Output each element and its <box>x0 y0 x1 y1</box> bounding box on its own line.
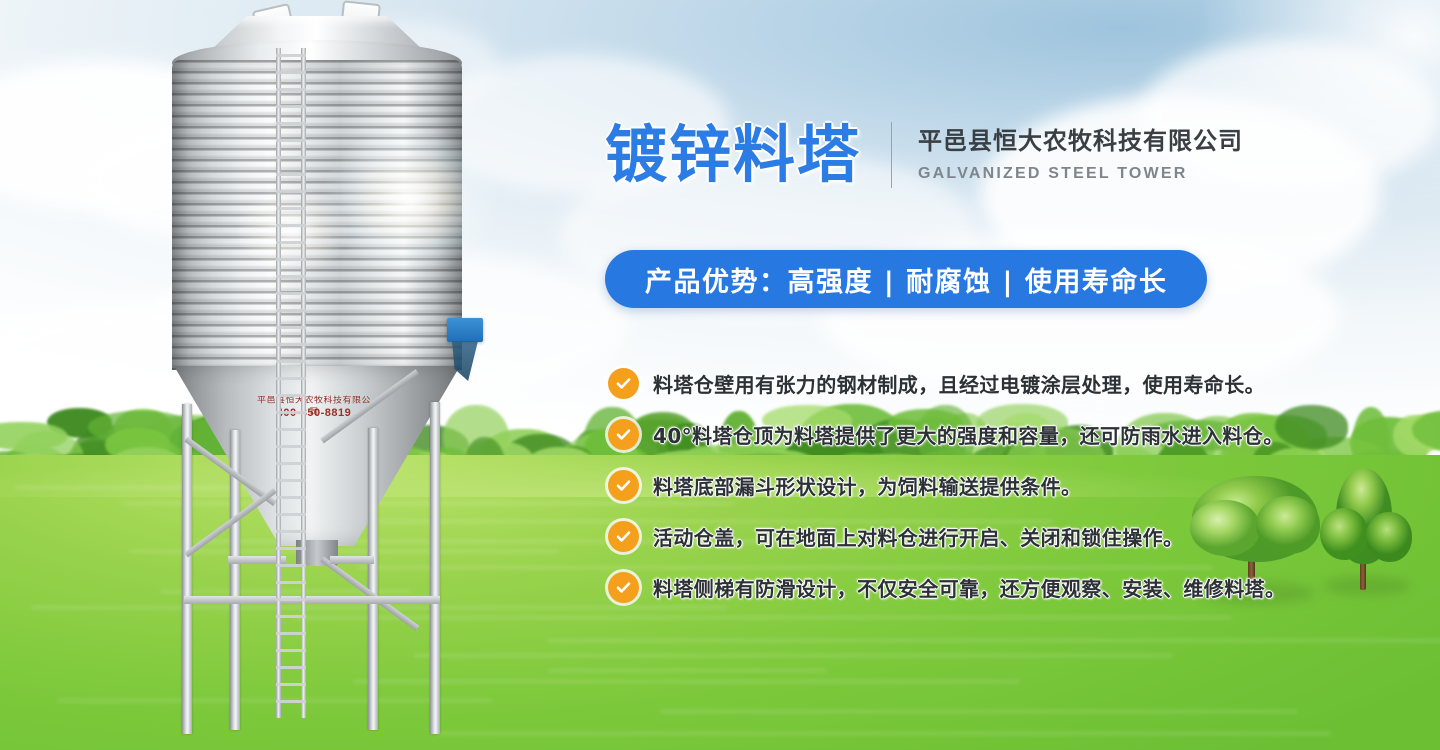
ladder-rung <box>276 649 306 652</box>
ladder-rung <box>276 411 306 414</box>
check-icon <box>608 470 639 501</box>
check-icon <box>608 572 639 603</box>
company-name: 平邑县恒大农牧科技有限公司 <box>918 127 1243 156</box>
ladder-rung <box>276 71 306 74</box>
ladder-rung <box>276 122 306 125</box>
ladder-rung <box>276 241 306 244</box>
hero-text-content: 镀锌料塔 平邑县恒大农牧科技有限公司 GALVANIZED STEEL TOWE… <box>600 0 1440 750</box>
ladder-rung <box>276 207 306 210</box>
title-block: 镀锌料塔 平邑县恒大农牧科技有限公司 GALVANIZED STEEL TOWE… <box>605 122 1243 188</box>
feature-item: 料塔仓壁用有张力的钢材制成，且经过电镀涂层处理，使用寿命长。 <box>608 358 1428 409</box>
page-title: 镀锌料塔 <box>605 124 861 186</box>
ladder-rung <box>276 139 306 142</box>
feature-text: 活动仓盖，可在地面上对料仓进行开启、关闭和锁住操作。 <box>653 522 1183 551</box>
ladder-rung <box>276 564 306 567</box>
feature-item: 40°料塔仓顶为料塔提供了更大的强度和容量，还可防雨水进入料仓。 <box>608 409 1428 460</box>
title-divider <box>891 122 892 188</box>
ladder-rung <box>276 156 306 159</box>
ladder-rung <box>276 258 306 261</box>
horizontal-brace <box>330 556 374 564</box>
advantage-banner-text: 产品优势：高强度 | 耐腐蚀 | 使用寿命长 <box>645 260 1167 299</box>
ladder-rung <box>276 632 306 635</box>
side-ladder <box>276 48 306 718</box>
ladder-rung <box>276 581 306 584</box>
ladder-rung <box>276 309 306 312</box>
feature-item: 料塔底部漏斗形状设计，为饲料输送提供条件。 <box>608 460 1428 511</box>
ladder-rung <box>276 513 306 516</box>
ladder-rung <box>276 292 306 295</box>
ladder-rung <box>276 615 306 618</box>
check-icon <box>608 419 639 450</box>
check-icon <box>608 368 639 399</box>
ladder-rung <box>276 224 306 227</box>
support-leg <box>368 428 378 730</box>
ladder-rung <box>276 394 306 397</box>
blue-auger-part <box>447 318 483 342</box>
ladder-rung <box>276 683 306 686</box>
ladder-rung <box>276 598 306 601</box>
ladder-rung <box>276 360 306 363</box>
ladder-rung <box>276 530 306 533</box>
ladder-rung <box>276 428 306 431</box>
silo-corrugated-body <box>172 60 462 370</box>
product-hero-banner: 平邑县恒大农牧科技有限公司 400-850-8819 镀锌料塔 平邑县恒大农牧科… <box>0 0 1440 750</box>
english-subtitle: GALVANIZED STEEL TOWER <box>918 165 1243 183</box>
ladder-rung <box>276 173 306 176</box>
feature-text: 料塔仓壁用有张力的钢材制成，且经过电镀涂层处理，使用寿命长。 <box>653 369 1265 398</box>
silo-product-image: 平邑县恒大农牧科技有限公司 400-850-8819 <box>100 0 520 750</box>
ladder-rung <box>276 462 306 465</box>
check-icon <box>608 521 639 552</box>
ladder-rung <box>276 700 306 703</box>
ladder-rung <box>276 666 306 669</box>
ladder-rung <box>276 496 306 499</box>
ladder-rung <box>276 479 306 482</box>
ladder-rung <box>276 275 306 278</box>
ladder-rung <box>276 547 306 550</box>
company-block: 平邑县恒大农牧科技有限公司 GALVANIZED STEEL TOWER <box>918 127 1243 183</box>
ladder-rung <box>276 343 306 346</box>
advantage-banner: 产品优势：高强度 | 耐腐蚀 | 使用寿命长 <box>605 250 1207 308</box>
horizontal-brace <box>184 596 440 604</box>
feature-text: 料塔侧梯有防滑设计，不仅安全可靠，还方便观察、安装、维修料塔。 <box>653 573 1285 602</box>
support-leg <box>182 404 192 734</box>
ladder-rung <box>276 54 306 57</box>
ladder-rung <box>276 105 306 108</box>
ladder-rung <box>276 88 306 91</box>
feature-text: 料塔底部漏斗形状设计，为饲料输送提供条件。 <box>653 471 1081 500</box>
blue-chute-part <box>452 341 478 381</box>
ladder-rung <box>276 377 306 380</box>
feature-text: 40°料塔仓顶为料塔提供了更大的强度和容量，还可防雨水进入料仓。 <box>653 420 1284 449</box>
feature-item: 料塔侧梯有防滑设计，不仅安全可靠，还方便观察、安装、维修料塔。 <box>608 562 1428 613</box>
feature-item: 活动仓盖，可在地面上对料仓进行开启、关闭和锁住操作。 <box>608 511 1428 562</box>
ladder-rung <box>276 445 306 448</box>
ladder-rung <box>276 326 306 329</box>
feature-list: 料塔仓壁用有张力的钢材制成，且经过电镀涂层处理，使用寿命长。40°料塔仓顶为料塔… <box>608 358 1428 613</box>
support-leg <box>430 402 440 734</box>
ladder-rung <box>276 190 306 193</box>
